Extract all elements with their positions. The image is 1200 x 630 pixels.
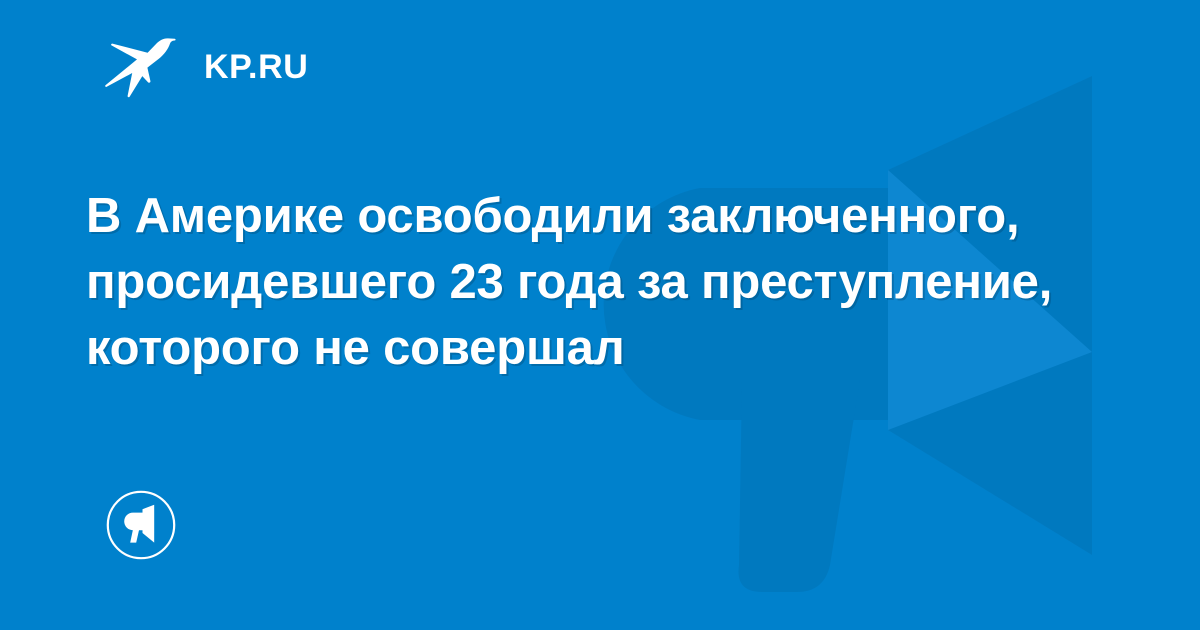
megaphone-icon <box>106 490 176 560</box>
social-share-card: KP.RU В Америке освободили заключенного,… <box>0 0 1200 630</box>
brand-name: KP.RU <box>204 50 308 84</box>
megaphone-badge[interactable] <box>106 490 176 560</box>
brand-logo[interactable]: KP.RU <box>104 34 308 100</box>
swallow-bird-icon <box>104 36 178 98</box>
article-headline: В Америке освободили заключенного, проси… <box>86 183 1076 381</box>
